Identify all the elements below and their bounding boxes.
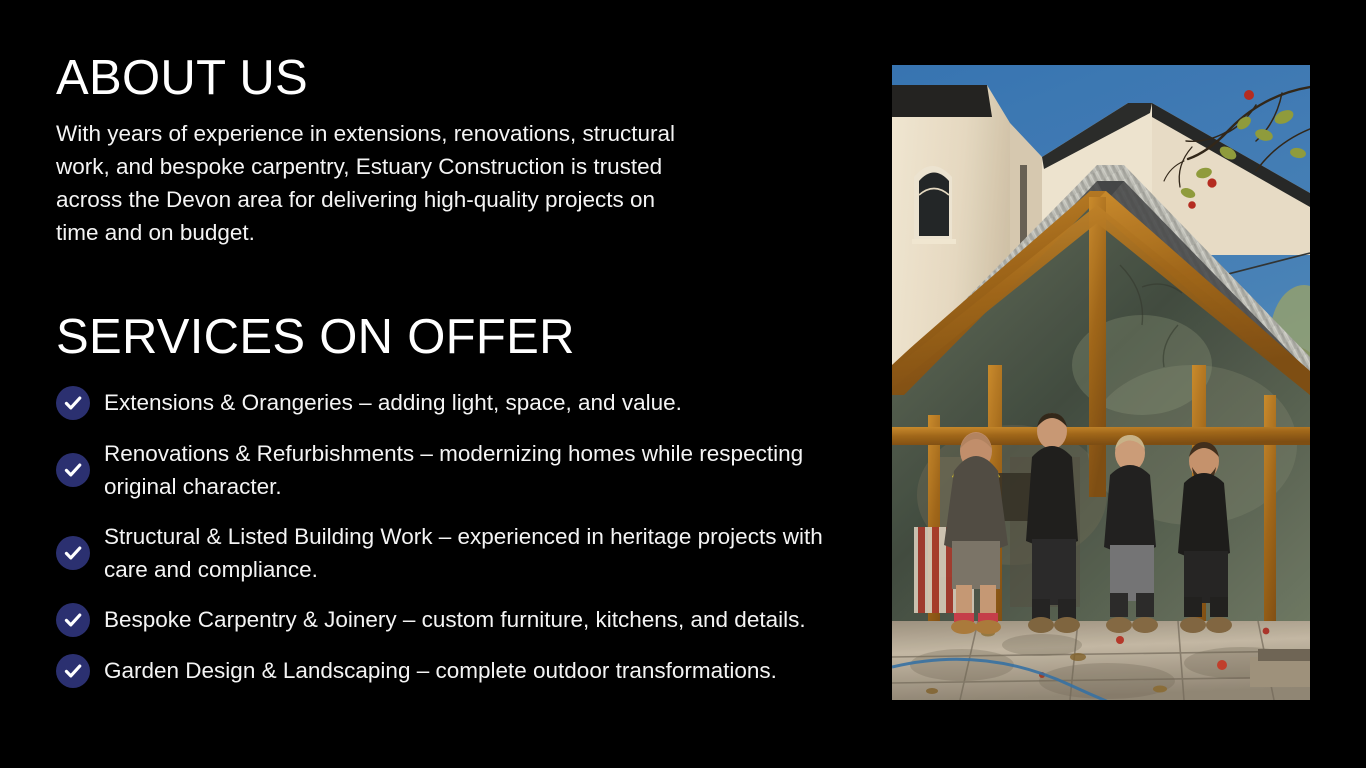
service-item-label: Renovations & Refurbishments – modernizi… — [104, 437, 864, 503]
list-item: Extensions & Orangeries – adding light, … — [56, 386, 871, 420]
list-item: Bespoke Carpentry & Joinery – custom fur… — [56, 603, 871, 637]
list-item: Structural & Listed Building Work – expe… — [56, 520, 871, 586]
list-item: Garden Design & Landscaping – complete o… — [56, 654, 871, 688]
check-circle-icon — [56, 603, 90, 637]
services-on-offer-heading: SERVICES ON OFFER — [56, 311, 871, 364]
list-item: Renovations & Refurbishments – modernizi… — [56, 437, 871, 503]
team-extension-photo — [892, 65, 1310, 700]
about-us-heading: ABOUT US — [56, 52, 871, 105]
slide-root: ABOUT US With years of experience in ext… — [0, 0, 1366, 768]
service-item-label: Garden Design & Landscaping – complete o… — [104, 654, 777, 687]
check-circle-icon — [56, 536, 90, 570]
services-list: Extensions & Orangeries – adding light, … — [56, 386, 871, 688]
check-circle-icon — [56, 654, 90, 688]
check-circle-icon — [56, 453, 90, 487]
check-circle-icon — [56, 386, 90, 420]
service-item-label: Extensions & Orangeries – adding light, … — [104, 386, 682, 419]
service-item-label: Structural & Listed Building Work – expe… — [104, 520, 864, 586]
about-us-paragraph: With years of experience in extensions, … — [56, 117, 696, 249]
service-item-label: Bespoke Carpentry & Joinery – custom fur… — [104, 603, 806, 636]
about-us-body: With years of experience in extensions, … — [56, 117, 696, 249]
content-column: ABOUT US With years of experience in ext… — [56, 52, 871, 688]
